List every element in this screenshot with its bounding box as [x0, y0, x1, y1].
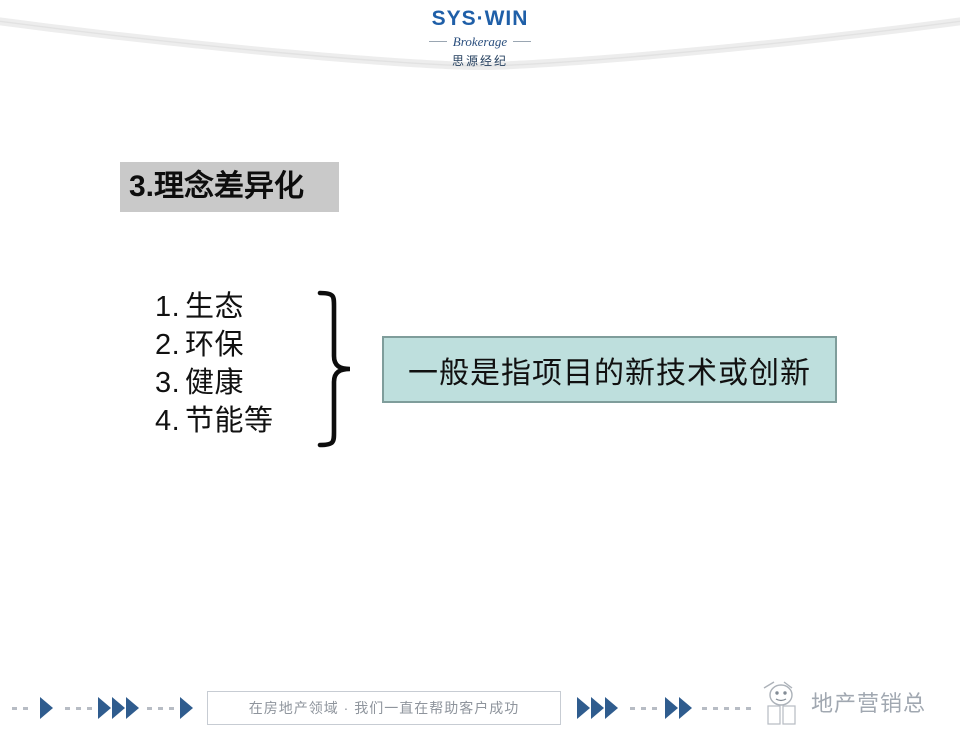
- footer-arrows-group: [98, 697, 139, 719]
- footer-arrows-group: [665, 697, 692, 719]
- list-item-number: 1.: [155, 288, 185, 326]
- footer-dot: [23, 707, 28, 710]
- footer-dot: [147, 707, 152, 710]
- list-item-label: 节能等: [185, 405, 274, 437]
- footer-dot: [641, 707, 646, 710]
- footer-tagline: 在房地产领域 · 我们一直在帮助客户成功: [249, 698, 519, 718]
- list-item-label: 健康: [185, 367, 244, 399]
- footer-dot: [12, 707, 17, 710]
- logo-wordmark: SYS·WIN: [432, 8, 529, 29]
- watermark: 地产营销总: [762, 676, 958, 728]
- chevron-right-icon: [126, 697, 139, 719]
- brand-logo: SYS·WIN Brokerage 思源经纪: [0, 8, 960, 67]
- bullet-list: 1.生态 2.环保 3.健康 4.节能等: [155, 288, 325, 440]
- logo-subtitle-row: Brokerage: [0, 35, 960, 48]
- logo-subtitle: Brokerage: [453, 35, 507, 48]
- footer-dot: [158, 707, 163, 710]
- logo-rule-left: [429, 41, 447, 42]
- footer-dot: [713, 707, 718, 710]
- chevron-right-icon: [98, 697, 111, 719]
- footer-dot: [630, 707, 635, 710]
- chevron-right-icon: [679, 697, 692, 719]
- chevron-right-icon: [665, 697, 678, 719]
- footer-dot: [87, 707, 92, 710]
- footer-dot: [65, 707, 70, 710]
- footer-arrows-group: [40, 697, 53, 719]
- footer-arrows-group: [577, 697, 618, 719]
- footer-tagline-box: 在房地产领域 · 我们一直在帮助客户成功: [207, 691, 561, 725]
- footer-dots-group: [12, 707, 28, 710]
- logo-chinese-name: 思源经纪: [0, 55, 960, 67]
- footer-dot: [169, 707, 174, 710]
- watermark-text: 地产营销总: [811, 686, 926, 718]
- footer-dot: [735, 707, 740, 710]
- footer-dot: [746, 707, 751, 710]
- footer-dots-group: [630, 707, 657, 710]
- chevron-right-icon: [112, 697, 125, 719]
- footer-dot: [76, 707, 81, 710]
- chevron-right-icon: [577, 697, 590, 719]
- list-item-number: 3.: [155, 364, 185, 402]
- footer-dots-group: [147, 707, 174, 710]
- footer-dots-group: [702, 707, 751, 710]
- section-title-box: 3.理念差异化: [120, 162, 339, 212]
- chevron-right-icon: [605, 697, 618, 719]
- list-item-number: 4.: [155, 402, 185, 440]
- chevron-right-icon: [591, 697, 604, 719]
- chevron-right-icon: [180, 697, 193, 719]
- callout-text: 一般是指项目的新技术或创新: [408, 348, 811, 392]
- list-item: 1.生态: [155, 288, 325, 326]
- slide-canvas: SYS·WIN Brokerage 思源经纪 3.理念差异化 1.生态 2.环保…: [0, 0, 960, 737]
- list-item-label: 环保: [185, 329, 244, 361]
- footer-dot: [702, 707, 707, 710]
- chevron-right-icon: [40, 697, 53, 719]
- smiley-face-icon: [762, 678, 806, 726]
- list-item: 3.健康: [155, 364, 325, 402]
- footer-dot: [652, 707, 657, 710]
- footer-dots-group: [65, 707, 92, 710]
- list-item: 4.节能等: [155, 402, 325, 440]
- footer-dot: [724, 707, 729, 710]
- callout-box: 一般是指项目的新技术或创新: [382, 336, 837, 403]
- page-title: 3.理念差异化: [129, 172, 304, 202]
- list-item-number: 2.: [155, 326, 185, 364]
- logo-rule-right: [513, 41, 531, 42]
- list-item: 2.环保: [155, 326, 325, 364]
- list-item-label: 生态: [185, 291, 244, 323]
- footer-arrows-group: [180, 697, 193, 719]
